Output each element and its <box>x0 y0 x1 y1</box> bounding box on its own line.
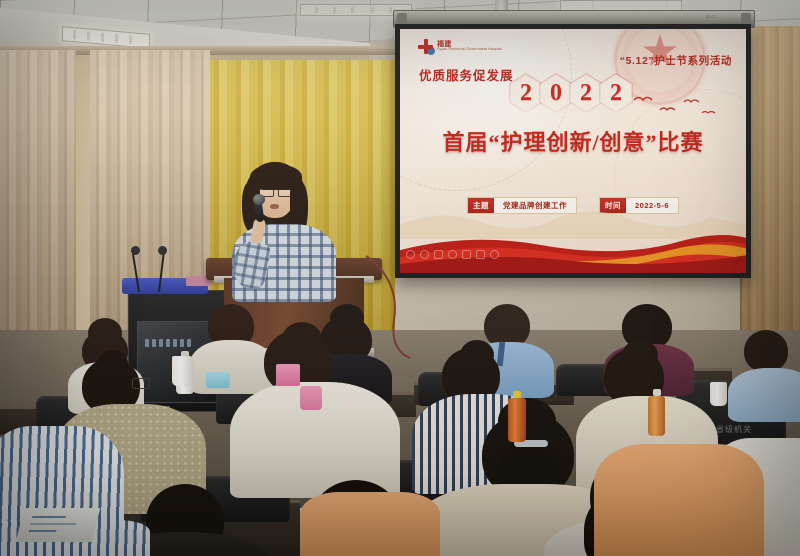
flying-birds-icon <box>630 91 722 121</box>
paper-cup <box>172 356 192 386</box>
slide-tagline-left: 优质服务促发展 <box>419 65 514 84</box>
year-digit-hex: 2 <box>509 73 543 113</box>
slide-tagline-right: “5.12”护士节系列活动 <box>620 53 732 68</box>
presenter <box>228 156 338 276</box>
pink-bottle <box>300 386 322 410</box>
microphone-head <box>158 246 167 255</box>
audience-member-orange <box>300 492 430 556</box>
red-ribbon-wave-graphic <box>400 201 746 273</box>
year-digit-hex: 2 <box>569 73 603 113</box>
paper-cup <box>710 382 727 406</box>
projection-screen: ★ 福建 Fujian Provincial Government Hospit… <box>395 24 751 278</box>
tissue-pack <box>206 372 230 388</box>
tea-bottle <box>648 396 665 436</box>
year-digit-hex: 0 <box>539 73 573 113</box>
microphone-head <box>131 246 140 255</box>
slide-headline: 首届“护理创新/创意”比赛 <box>400 125 746 157</box>
tea-bottle <box>508 398 526 442</box>
logo-name-en: Fujian Provincial Government Hospital <box>437 48 502 52</box>
slide-year: 2 0 2 2 <box>513 73 633 113</box>
screen-brand-label: ▭▭ <box>706 14 716 20</box>
audience-member <box>736 330 800 406</box>
year-digit-hex: 2 <box>599 73 633 113</box>
conference-room-photo: ▭▭ ★ 福建 Fujian Provincial Government Hos… <box>0 0 800 556</box>
curtain-middle <box>58 50 76 350</box>
hospital-logo: 福建 Fujian Provincial Government Hospital <box>418 39 502 54</box>
eyeglasses <box>132 378 150 389</box>
slide-canvas: ★ 福建 Fujian Provincial Government Hospit… <box>400 29 746 273</box>
handout-paper <box>16 508 100 542</box>
red-cross-icon <box>418 39 433 54</box>
microphone-head <box>253 194 265 205</box>
audience-member <box>594 404 758 556</box>
pink-notebook <box>276 364 300 386</box>
